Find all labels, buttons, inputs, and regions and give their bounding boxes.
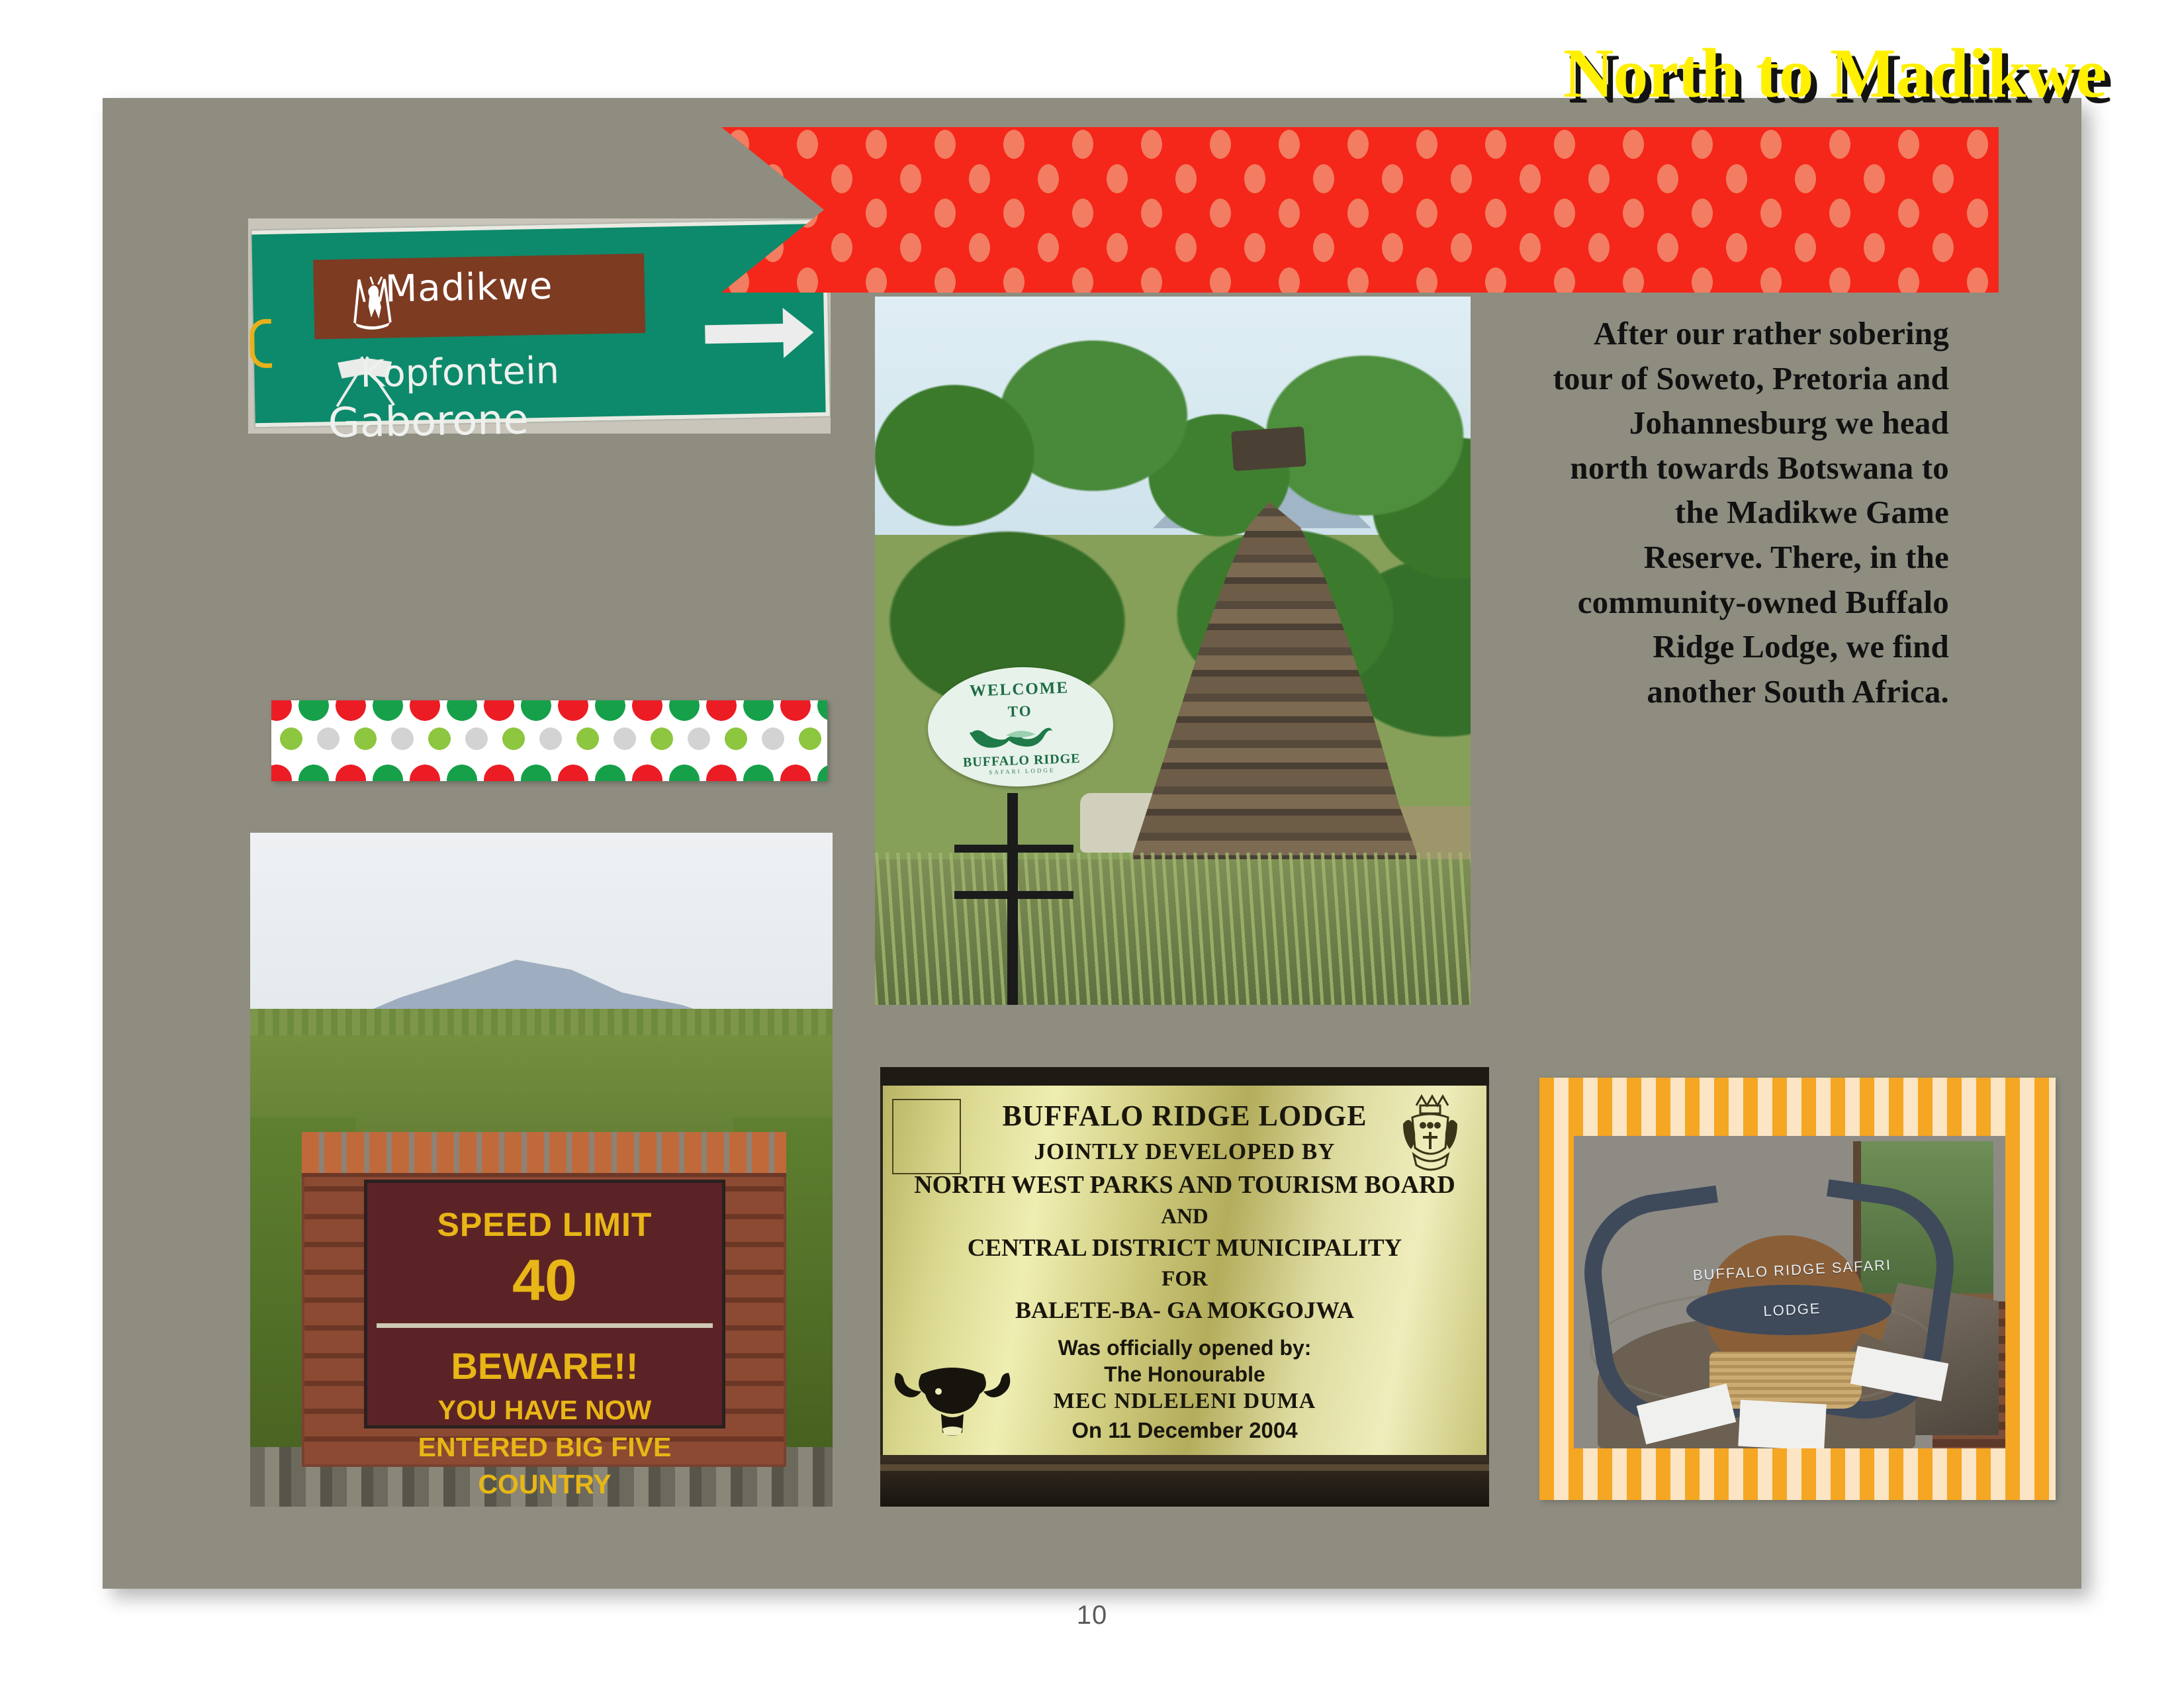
plaque-line11: On 11 December 2004 [883, 1418, 1486, 1443]
plaque-line5: CENTRAL DISTRICT MUNICIPALITY [883, 1234, 1486, 1262]
right-arrow-icon [705, 324, 785, 344]
brick-surround-top [302, 1132, 786, 1177]
photo-road-sign-madikwe: Madikwe Kopfontein Gaborone [248, 218, 831, 434]
speed-limit-line3: BEWARE!! [367, 1344, 722, 1387]
plaque-line3: NORTH WEST PARKS AND TOURISM BOARD [883, 1170, 1486, 1199]
plaque-line8: Was officially opened by: [883, 1336, 1486, 1360]
road-sign-label-kopfontein: Kopfontein [360, 349, 560, 396]
banner-dot-pattern [721, 127, 1999, 293]
welcome-line2: TO [927, 700, 1113, 724]
road-sign-label-madikwe: Madikwe [385, 265, 553, 311]
speed-limit-value: 40 [367, 1246, 722, 1314]
speed-limit-line6: COUNTRY [367, 1469, 722, 1500]
framed-photo-inner: BUFFALO RIDGE SAFARI LODGE [1574, 1136, 2005, 1448]
welcome-oval-sign: WELCOME TO BUFFALO RIDGE SAFARI LODGE [926, 664, 1115, 790]
speed-limit-panel: SPEED LIMIT 40 BEWARE!! YOU HAVE NOW ENT… [364, 1180, 725, 1429]
title-banner [721, 127, 1999, 293]
plaque-line4: AND [883, 1205, 1486, 1229]
sign-post-crossbar-lower [954, 891, 1073, 899]
page-number: 10 [0, 1601, 2184, 1630]
photo-speed-limit-sign: SPEED LIMIT 40 BEWARE!! YOU HAVE NOW ENT… [250, 833, 833, 1507]
stone-cairn-capstone [1231, 426, 1306, 471]
woven-basket [1709, 1352, 1862, 1409]
info-card [1738, 1400, 1826, 1448]
speed-limit-line1: SPEED LIMIT [367, 1205, 722, 1244]
photo-buffalo-ridge-entrance: WELCOME TO BUFFALO RIDGE SAFARI LODGE [875, 297, 1471, 1005]
plaque-line10: MEC NDLELENI DUMA [883, 1389, 1486, 1414]
yellow-route-marker-icon [250, 319, 272, 369]
plaque-line2: JOINTLY DEVELOPED BY [883, 1139, 1486, 1165]
photo-dedication-plaque: BUFFALO RIDGE LODGE JOINTLY DEVELOPED BY… [880, 1067, 1489, 1507]
plaque-frame-bottom [880, 1455, 1489, 1507]
body-paragraph: After our rather sobering tour of Soweto… [1552, 311, 1949, 714]
plaque-line1: BUFFALO RIDGE LODGE [883, 1099, 1486, 1133]
page-title: North to Madikwe [1563, 33, 2106, 114]
road-sign-label-gaborone: Gaborone [328, 395, 529, 447]
dot-layer-gray [271, 700, 827, 781]
sign-post-crossbar-upper [954, 845, 1073, 853]
brass-plate: BUFFALO RIDGE LODGE JOINTLY DEVELOPED BY… [883, 1086, 1486, 1455]
panel-divider [377, 1323, 713, 1328]
polka-dot-divider-strip [271, 700, 827, 781]
plaque-line6: FOR [883, 1267, 1486, 1291]
speed-limit-line4: YOU HAVE NOW [367, 1395, 722, 1426]
buffalo-horns-icon [968, 721, 1075, 757]
plaque-frame-top [880, 1067, 1489, 1086]
foreground-grass [875, 853, 1471, 1005]
speed-limit-line5: ENTERED BIG FIVE [367, 1432, 722, 1463]
sign-post [1007, 793, 1018, 1005]
plaque-line9: The Honourable [883, 1362, 1486, 1387]
photo-beaded-buffalo-mask-framed: BUFFALO RIDGE SAFARI LODGE [1539, 1078, 2056, 1500]
plaque-line7: BALETE-BA- GA MOKGOJWA [883, 1296, 1486, 1324]
road-sign-board: Madikwe Kopfontein Gaborone [251, 220, 830, 428]
